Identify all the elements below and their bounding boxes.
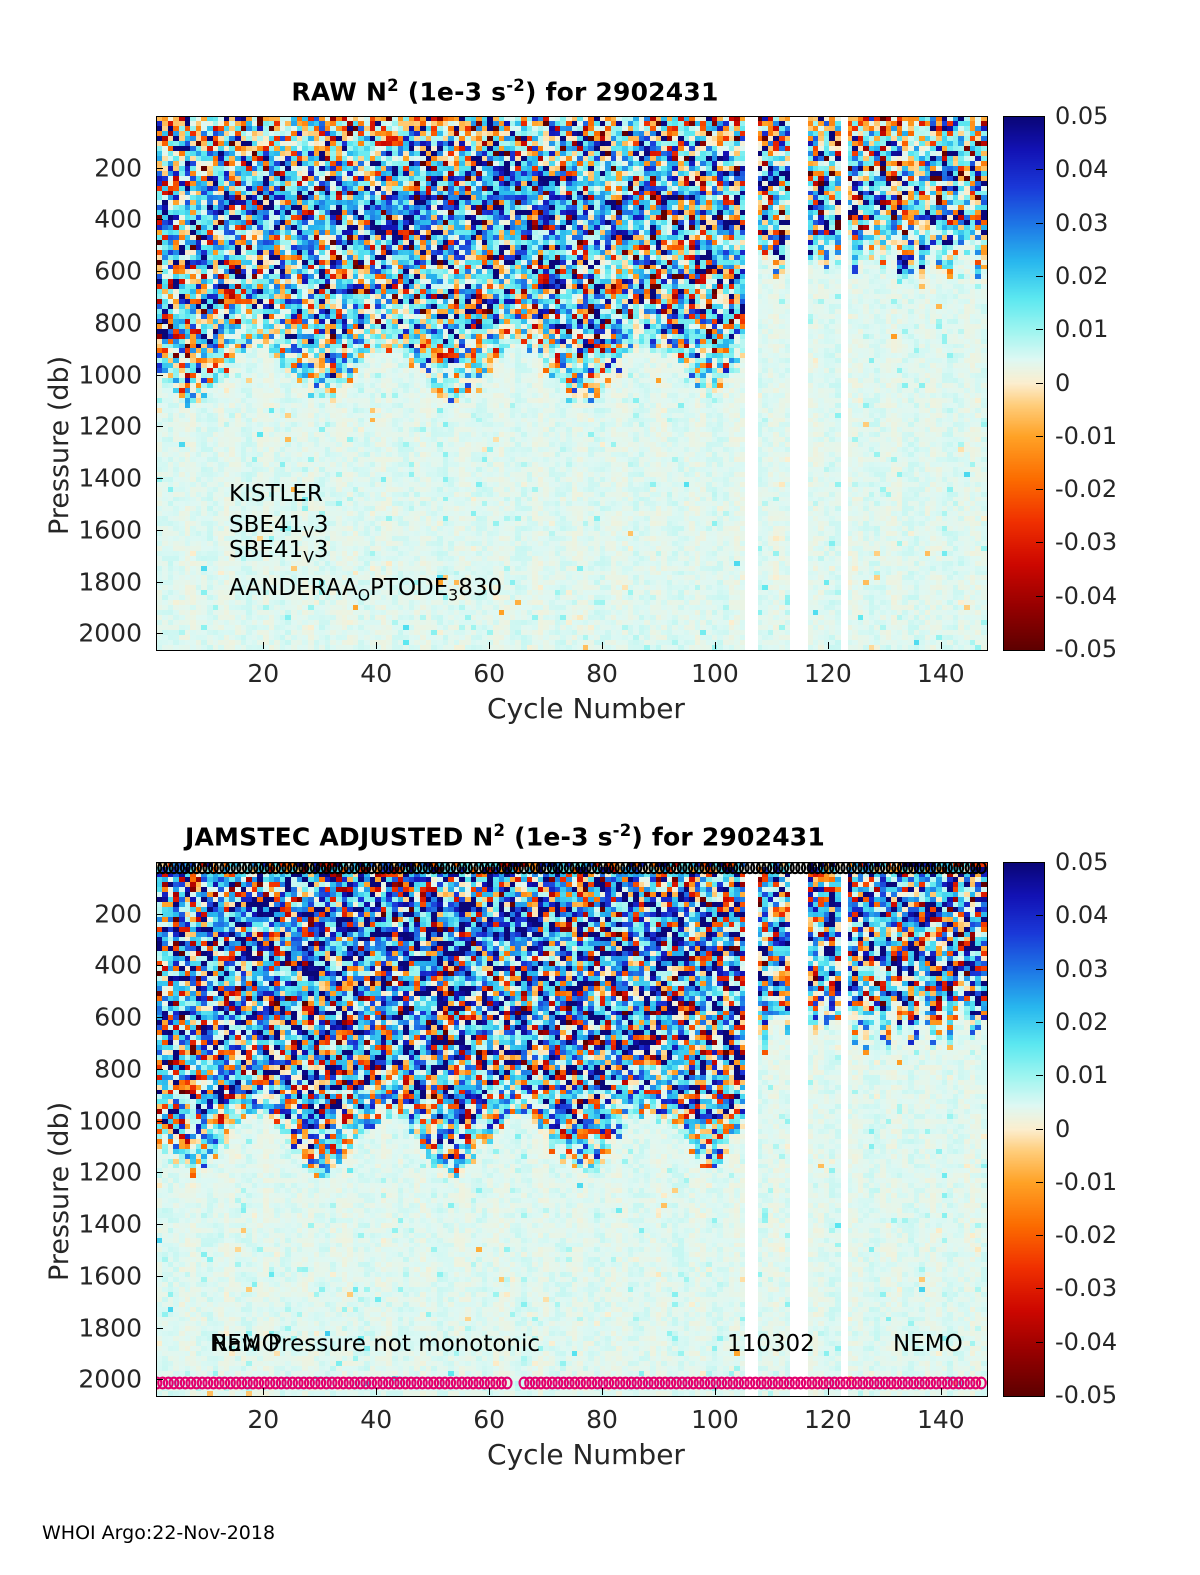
- adjusted-xlabel: Cycle Number: [156, 1438, 1016, 1471]
- adj-title-main: JAMSTEC ADJUSTED N: [185, 822, 494, 851]
- y-tickmark: [156, 1328, 163, 1329]
- colorbar-tickmark: [1036, 1129, 1043, 1130]
- y-tickmark: [156, 1379, 163, 1380]
- x-tickmark: [941, 1388, 942, 1395]
- y-tickmark: [156, 1172, 163, 1173]
- raw-title-mid: (1e-3 s: [399, 77, 506, 106]
- raw-title-sup1: 2: [387, 76, 399, 95]
- colorbar-tick-label: -0.05: [1055, 635, 1175, 663]
- raw-annot-0-text: KISTLER: [229, 481, 323, 507]
- y-tick-label: 400: [42, 951, 142, 980]
- y-tickmark: [156, 582, 163, 583]
- x-tick-label: 60: [449, 659, 529, 688]
- x-tickmark: [715, 642, 716, 649]
- colorbar-tick-label: 0.01: [1055, 315, 1175, 343]
- adjusted-annotation-110302: 110302: [727, 1331, 815, 1357]
- adjusted-annotation-nemo-right: NEMO: [893, 1331, 963, 1357]
- colorbar-tickmark: [1036, 169, 1043, 170]
- y-tick-label: 600: [42, 257, 142, 286]
- y-tickmark: [156, 1069, 163, 1070]
- colorbar-tick-label: -0.04: [1055, 1328, 1175, 1356]
- y-tickmark: [156, 219, 163, 220]
- colorbar-tick-label: -0.03: [1055, 528, 1175, 556]
- raw-heatmap-axes: [156, 116, 988, 651]
- colorbar-tick-label: 0: [1055, 369, 1175, 397]
- colorbar-tickmark: [1036, 915, 1043, 916]
- y-tickmark: [156, 478, 163, 479]
- x-tick-label: 140: [901, 1405, 981, 1434]
- y-tickmark: [156, 1017, 163, 1018]
- y-tick-label: 1800: [42, 567, 142, 596]
- x-tick-label: 40: [336, 1405, 416, 1434]
- x-tickmark: [602, 1388, 603, 1395]
- colorbar-tickmark: [1036, 489, 1043, 490]
- colorbar-tick-label: 0.01: [1055, 1061, 1175, 1089]
- colorbar-tick-label: 0.03: [1055, 209, 1175, 237]
- x-tick-label: 80: [562, 659, 642, 688]
- colorbar-tick-label: 0.04: [1055, 901, 1175, 929]
- y-tickmark: [156, 168, 163, 169]
- colorbar-tick-label: -0.01: [1055, 422, 1175, 450]
- x-tickmark: [263, 642, 264, 649]
- y-tickmark: [156, 965, 163, 966]
- adj-title-sup1: 2: [494, 821, 506, 840]
- adjusted-ylabel: Pressure (db): [44, 1102, 75, 1281]
- y-tickmark: [156, 1276, 163, 1277]
- x-tick-label: 120: [788, 659, 868, 688]
- raw-title-sup2: -2: [506, 76, 525, 95]
- colorbar-tick-label: -0.02: [1055, 1221, 1175, 1249]
- y-tick-label: 1800: [42, 1313, 142, 1342]
- x-tick-label: 100: [675, 1405, 755, 1434]
- colorbar-tick-label: -0.04: [1055, 582, 1175, 610]
- x-tickmark: [828, 1388, 829, 1395]
- y-tickmark: [156, 633, 163, 634]
- raw-annot-3-text2: PTODE: [370, 575, 448, 601]
- raw-title-main: RAW N: [291, 77, 387, 106]
- colorbar-tickmark: [1036, 1342, 1043, 1343]
- colorbar-tick-label: -0.03: [1055, 1274, 1175, 1302]
- x-tick-label: 100: [675, 659, 755, 688]
- colorbar-tick-label: 0.03: [1055, 955, 1175, 983]
- y-tick-label: 800: [42, 308, 142, 337]
- raw-annot-2-text: SBE41: [229, 537, 303, 563]
- raw-annot-3-text3: 830: [458, 575, 502, 601]
- raw-annot-2-sub: V: [303, 548, 314, 567]
- raw-title-tail: ) for 2902431: [525, 77, 719, 106]
- raw-annot-3-sub: O: [358, 586, 370, 605]
- raw-annotation-sbe41-b: SBE41V3: [229, 537, 329, 567]
- colorbar-tickmark: [1036, 329, 1043, 330]
- raw-annot-1-text2: 3: [314, 512, 329, 538]
- raw-annotation-aanderaa: AANDERAAOPTODE3830: [229, 575, 502, 605]
- y-tick-label: 2000: [42, 1365, 142, 1394]
- y-tick-label: 2000: [42, 619, 142, 648]
- y-tickmark: [156, 271, 163, 272]
- panel-raw-n2: RAW N2 (1e-3 s-2) for 2902431 2004006008…: [0, 0, 1200, 760]
- y-tick-label: 200: [42, 153, 142, 182]
- colorbar-tickmark: [1036, 542, 1043, 543]
- raw-annot-3-text: AANDERAA: [229, 575, 358, 601]
- x-tickmark: [489, 642, 490, 649]
- colorbar-tick-label: -0.02: [1055, 475, 1175, 503]
- x-tickmark: [489, 1388, 490, 1395]
- colorbar-tick-label: 0: [1055, 1115, 1175, 1143]
- y-tickmark: [156, 375, 163, 376]
- x-tick-label: 20: [223, 659, 303, 688]
- raw-annotation-kistler: KISTLER: [229, 481, 323, 507]
- x-tickmark: [376, 642, 377, 649]
- panel-adjusted-n2: JAMSTEC ADJUSTED N2 (1e-3 s-2) for 29024…: [0, 745, 1200, 1505]
- adjusted-annotation-raw-pressure: Raw Pressure not monotonic: [212, 1331, 540, 1357]
- colorbar-tick-label: 0.02: [1055, 1008, 1175, 1036]
- raw-heatmap-canvas: [157, 117, 987, 650]
- x-tick-label: 60: [449, 1405, 529, 1434]
- colorbar-tickmark: [1036, 1075, 1043, 1076]
- raw-ylabel: Pressure (db): [44, 356, 75, 535]
- x-tickmark: [715, 1388, 716, 1395]
- colorbar-tickmark: [1036, 436, 1043, 437]
- x-tick-label: 40: [336, 659, 416, 688]
- raw-annot-3-sub2: 3: [448, 586, 458, 605]
- x-tick-label: 80: [562, 1405, 642, 1434]
- raw-annot-1-text: SBE41: [229, 512, 303, 538]
- y-tickmark: [156, 426, 163, 427]
- colorbar-tickmark: [1036, 383, 1043, 384]
- adjusted-plot-title: JAMSTEC ADJUSTED N2 (1e-3 s-2) for 29024…: [0, 821, 1010, 851]
- y-tickmark: [156, 1121, 163, 1122]
- raw-xlabel: Cycle Number: [156, 692, 1016, 725]
- raw-plot-title: RAW N2 (1e-3 s-2) for 2902431: [0, 76, 1010, 106]
- y-tickmark: [156, 914, 163, 915]
- colorbar-tick-label: -0.01: [1055, 1168, 1175, 1196]
- y-tick-label: 400: [42, 205, 142, 234]
- x-tickmark: [376, 1388, 377, 1395]
- colorbar-tickmark: [1036, 596, 1043, 597]
- colorbar-tickmark: [1036, 276, 1043, 277]
- adjusted-heatmap-axes: [156, 862, 988, 1397]
- y-tick-label: 800: [42, 1054, 142, 1083]
- colorbar-tick-label: 0.05: [1055, 102, 1175, 130]
- adj-title-sup2: -2: [613, 821, 632, 840]
- raw-annot-2-text2: 3: [314, 537, 329, 563]
- y-tickmark: [156, 323, 163, 324]
- y-tickmark: [156, 530, 163, 531]
- colorbar-tickmark: [1036, 1288, 1043, 1289]
- y-tick-label: 200: [42, 899, 142, 928]
- x-tick-label: 120: [788, 1405, 868, 1434]
- colorbar-tickmark: [1036, 1182, 1043, 1183]
- colorbar-tickmark: [1036, 223, 1043, 224]
- adj-title-mid: (1e-3 s: [505, 822, 612, 851]
- colorbar-tick-label: 0.05: [1055, 848, 1175, 876]
- adj-title-tail: ) for 2902431: [631, 822, 825, 851]
- adjusted-heatmap-canvas: [157, 863, 987, 1396]
- colorbar-tickmark: [1036, 1235, 1043, 1236]
- figure-footer: WHOI Argo:22-Nov-2018: [42, 1522, 275, 1544]
- colorbar-tickmark: [1036, 969, 1043, 970]
- colorbar-tick-label: -0.05: [1055, 1381, 1175, 1409]
- colorbar-tick-label: 0.04: [1055, 155, 1175, 183]
- y-tickmark: [156, 1224, 163, 1225]
- x-tick-label: 20: [223, 1405, 303, 1434]
- y-tick-label: 600: [42, 1003, 142, 1032]
- x-tick-label: 140: [901, 659, 981, 688]
- x-tickmark: [602, 642, 603, 649]
- x-tickmark: [941, 642, 942, 649]
- colorbar-tick-label: 0.02: [1055, 262, 1175, 290]
- x-tickmark: [828, 642, 829, 649]
- x-tickmark: [263, 1388, 264, 1395]
- colorbar-tickmark: [1036, 1022, 1043, 1023]
